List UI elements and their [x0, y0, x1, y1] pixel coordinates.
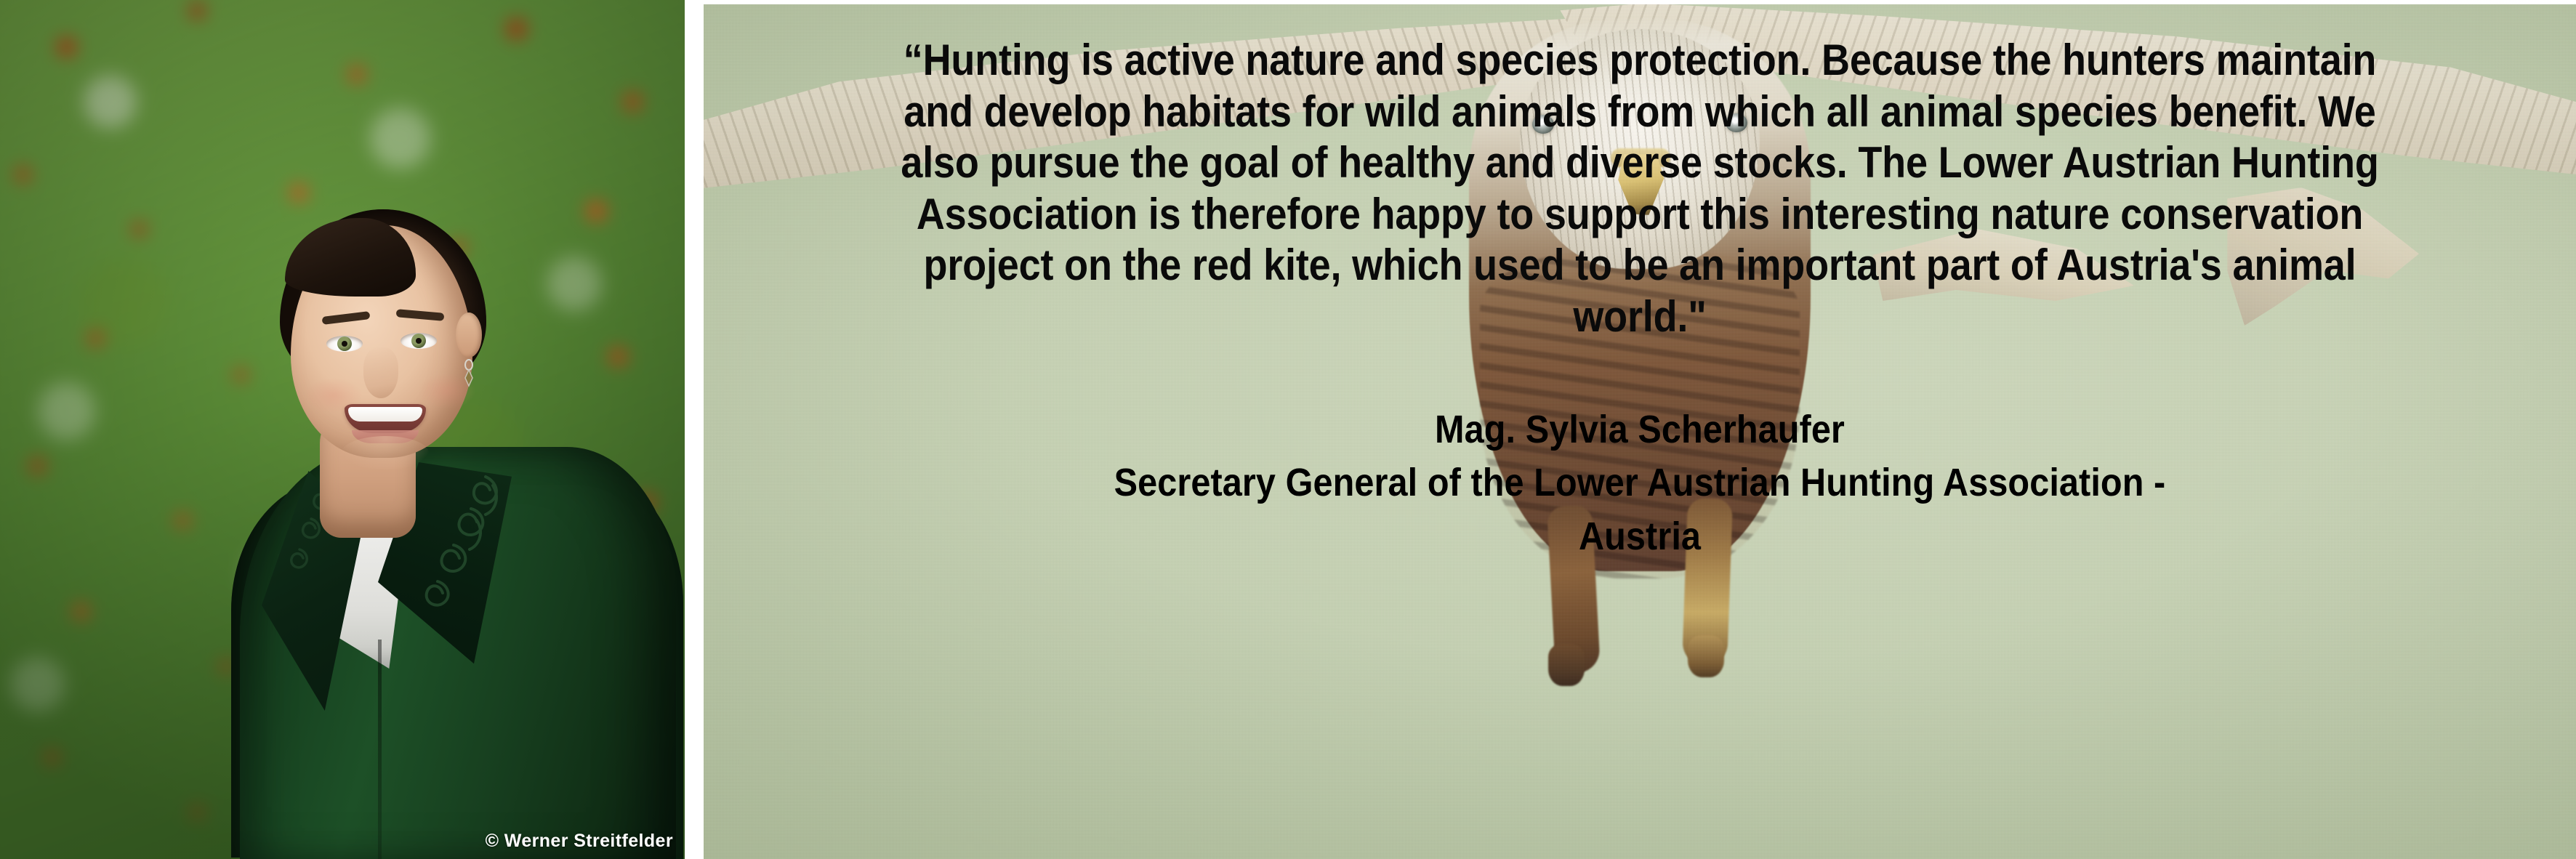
ear: [456, 312, 482, 358]
photo-credit: © Werner Streitfelder: [486, 831, 673, 852]
attribution-role: Secretary General of the Lower Austrian …: [876, 456, 2404, 509]
portrait-photo: © Werner Streitfelder: [0, 0, 685, 859]
teeth: [348, 407, 422, 422]
quote-content: “Hunting is active nature and species pr…: [704, 4, 2576, 859]
hair-fringe: [285, 218, 416, 297]
woman-figure: [0, 0, 685, 859]
pupil-left: [342, 341, 347, 347]
pupil-right: [416, 338, 422, 344]
chin: [342, 436, 429, 469]
mouth: [345, 404, 426, 433]
quote-attribution: Mag. Sylvia Scherhaufer Secretary Genera…: [876, 403, 2404, 563]
attribution-name: Mag. Sylvia Scherhaufer: [876, 403, 2404, 456]
quote-panel: “Hunting is active nature and species pr…: [704, 0, 2576, 859]
testimonial-banner: © Werner Streitfelder: [0, 0, 2576, 859]
cheek-right: [419, 374, 475, 408]
jacket-seam: [378, 640, 382, 859]
panel-divider: [685, 0, 704, 859]
attribution-country: Austria: [876, 510, 2404, 563]
nose: [363, 347, 398, 398]
quote-text: “Hunting is active nature and species pr…: [878, 35, 2402, 342]
